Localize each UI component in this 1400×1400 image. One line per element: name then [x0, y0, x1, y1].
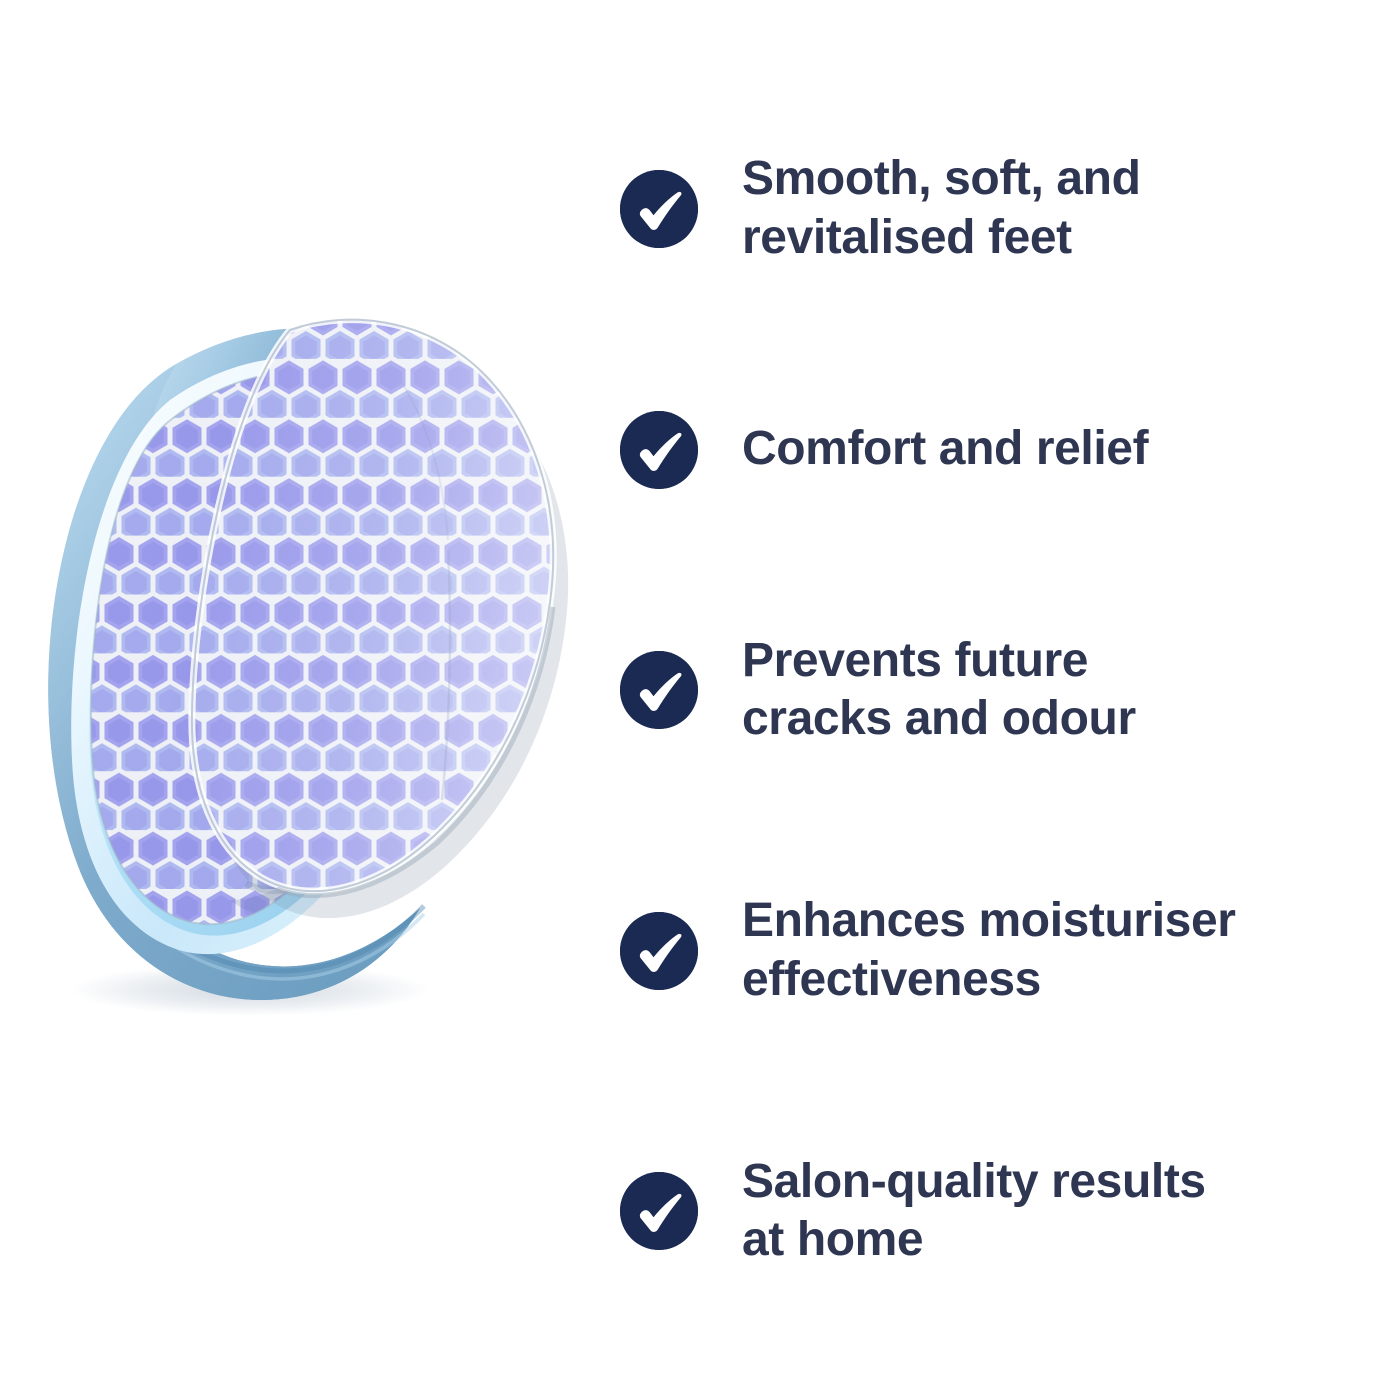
product-illustration	[0, 300, 620, 1100]
benefit-label: Comfort and relief	[742, 420, 1380, 479]
check-circle-icon	[620, 651, 698, 729]
benefit-item-smooth-soft-revitalised-feet: Smooth, soft, and revitalised feet	[620, 150, 1380, 267]
check-circle-icon	[620, 1172, 698, 1250]
check-circle-icon	[620, 912, 698, 990]
benefit-item-comfort-and-relief: Comfort and relief	[620, 411, 1380, 489]
check-circle-icon	[620, 170, 698, 248]
benefit-label: Enhances moisturiser effectiveness	[742, 892, 1380, 1009]
product-image	[0, 300, 620, 1100]
product-benefits-graphic: Smooth, soft, and revitalised feet Comfo…	[0, 0, 1400, 1400]
benefit-label: Salon-quality results at home	[742, 1153, 1380, 1270]
benefit-item-prevents-future-cracks-and-odour: Prevents future cracks and odour	[620, 632, 1380, 749]
benefit-item-salon-quality-results-at-home: Salon-quality results at home	[620, 1153, 1380, 1270]
benefit-label: Smooth, soft, and revitalised feet	[742, 150, 1380, 267]
benefit-item-enhances-moisturiser-effectiveness: Enhances moisturiser effectiveness	[620, 892, 1380, 1009]
benefit-label: Prevents future cracks and odour	[742, 632, 1380, 749]
check-circle-icon	[620, 411, 698, 489]
benefits-list: Smooth, soft, and revitalised feet Comfo…	[620, 150, 1380, 1270]
